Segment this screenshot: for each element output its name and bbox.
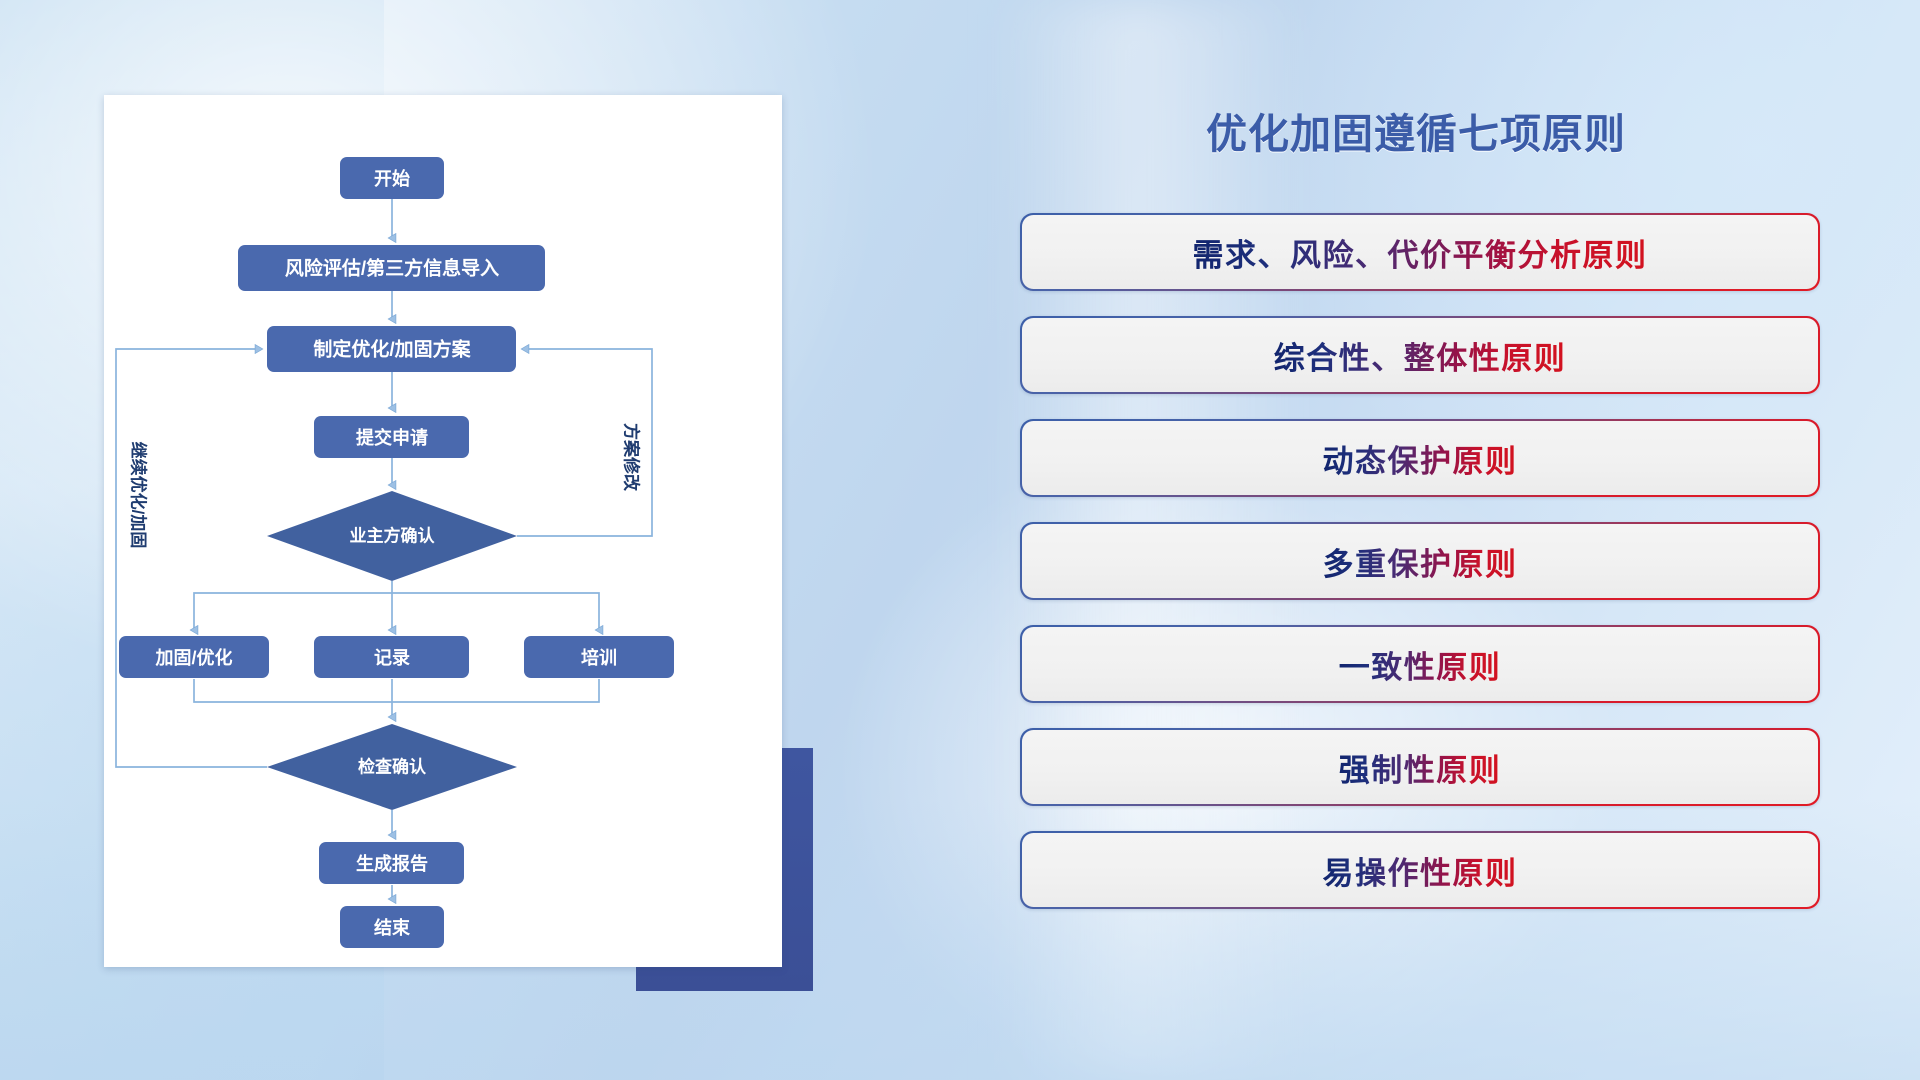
flowchart-card: 开始 风险评估/第三方信息导入 制定优化/加固方案 提交申请 业主方确认 加固/… — [104, 95, 782, 967]
flowchart-node-inspection-confirmation[interactable]: 检查确认 — [267, 724, 517, 810]
principle-card-7[interactable]: 易操作性原则 — [1020, 831, 1820, 909]
principle-card-inner[interactable]: 一致性原则 — [1022, 627, 1819, 702]
flowchart-edge-label-plan-revise: 方案修改 — [622, 423, 642, 492]
flowchart-node-owner-confirmation[interactable]: 业主方确认 — [267, 491, 517, 581]
principle-card-inner[interactable]: 需求、风险、代价平衡分析原则 — [1022, 215, 1819, 290]
principle-label: 一致性原则 — [1339, 642, 1502, 687]
principle-card-1[interactable]: 需求、风险、代价平衡分析原则 — [1020, 213, 1820, 291]
principle-label: 多重保护原则 — [1323, 539, 1518, 584]
principle-card-inner[interactable]: 动态保护原则 — [1022, 421, 1819, 496]
flowchart-node-reinforce-optimize[interactable]: 加固/优化 — [119, 636, 269, 678]
flowchart-node-risk-assessment[interactable]: 风险评估/第三方信息导入 — [238, 245, 545, 291]
principle-label: 强制性原则 — [1339, 745, 1502, 790]
principle-label: 综合性、整体性原则 — [1274, 333, 1567, 378]
principle-card-2[interactable]: 综合性、整体性原则 — [1020, 316, 1820, 394]
principle-card-5[interactable]: 一致性原则 — [1020, 625, 1820, 703]
principle-card-inner[interactable]: 多重保护原则 — [1022, 524, 1819, 599]
principle-card-3[interactable]: 动态保护原则 — [1020, 419, 1820, 497]
principle-card-inner[interactable]: 综合性、整体性原则 — [1022, 318, 1819, 393]
flowchart-svg: 开始 风险评估/第三方信息导入 制定优化/加固方案 提交申请 业主方确认 加固/… — [104, 95, 782, 967]
principle-card-4[interactable]: 多重保护原则 — [1020, 522, 1820, 600]
principles-panel: 优化加固遵循七项原则 需求、风险、代价平衡分析原则 综合性、整体性原则 动态保护… — [1020, 100, 1820, 1000]
flowchart-node-plan-optimization[interactable]: 制定优化/加固方案 — [267, 326, 516, 372]
flowchart-node-start[interactable]: 开始 — [340, 157, 444, 199]
flowchart-node-record[interactable]: 记录 — [314, 636, 469, 678]
principle-label: 动态保护原则 — [1323, 436, 1518, 481]
panel-title: 优化加固遵循七项原则 — [1012, 100, 1820, 160]
flowchart-node-submit-application[interactable]: 提交申请 — [314, 416, 469, 458]
principle-label: 需求、风险、代价平衡分析原则 — [1193, 230, 1648, 275]
flowchart-node-end[interactable]: 结束 — [340, 906, 444, 948]
flowchart-edge-label-continue-optimize: 继续优化/加固 — [129, 442, 149, 549]
principles-list: 需求、风险、代价平衡分析原则 综合性、整体性原则 动态保护原则 多重保护原则 一… — [1020, 213, 1820, 909]
flowchart-node-generate-report[interactable]: 生成报告 — [319, 842, 464, 884]
principle-card-inner[interactable]: 易操作性原则 — [1022, 833, 1819, 908]
principle-label: 易操作性原则 — [1323, 848, 1518, 893]
principle-card-inner[interactable]: 强制性原则 — [1022, 730, 1819, 805]
principle-card-6[interactable]: 强制性原则 — [1020, 728, 1820, 806]
flowchart-node-training[interactable]: 培训 — [524, 636, 674, 678]
